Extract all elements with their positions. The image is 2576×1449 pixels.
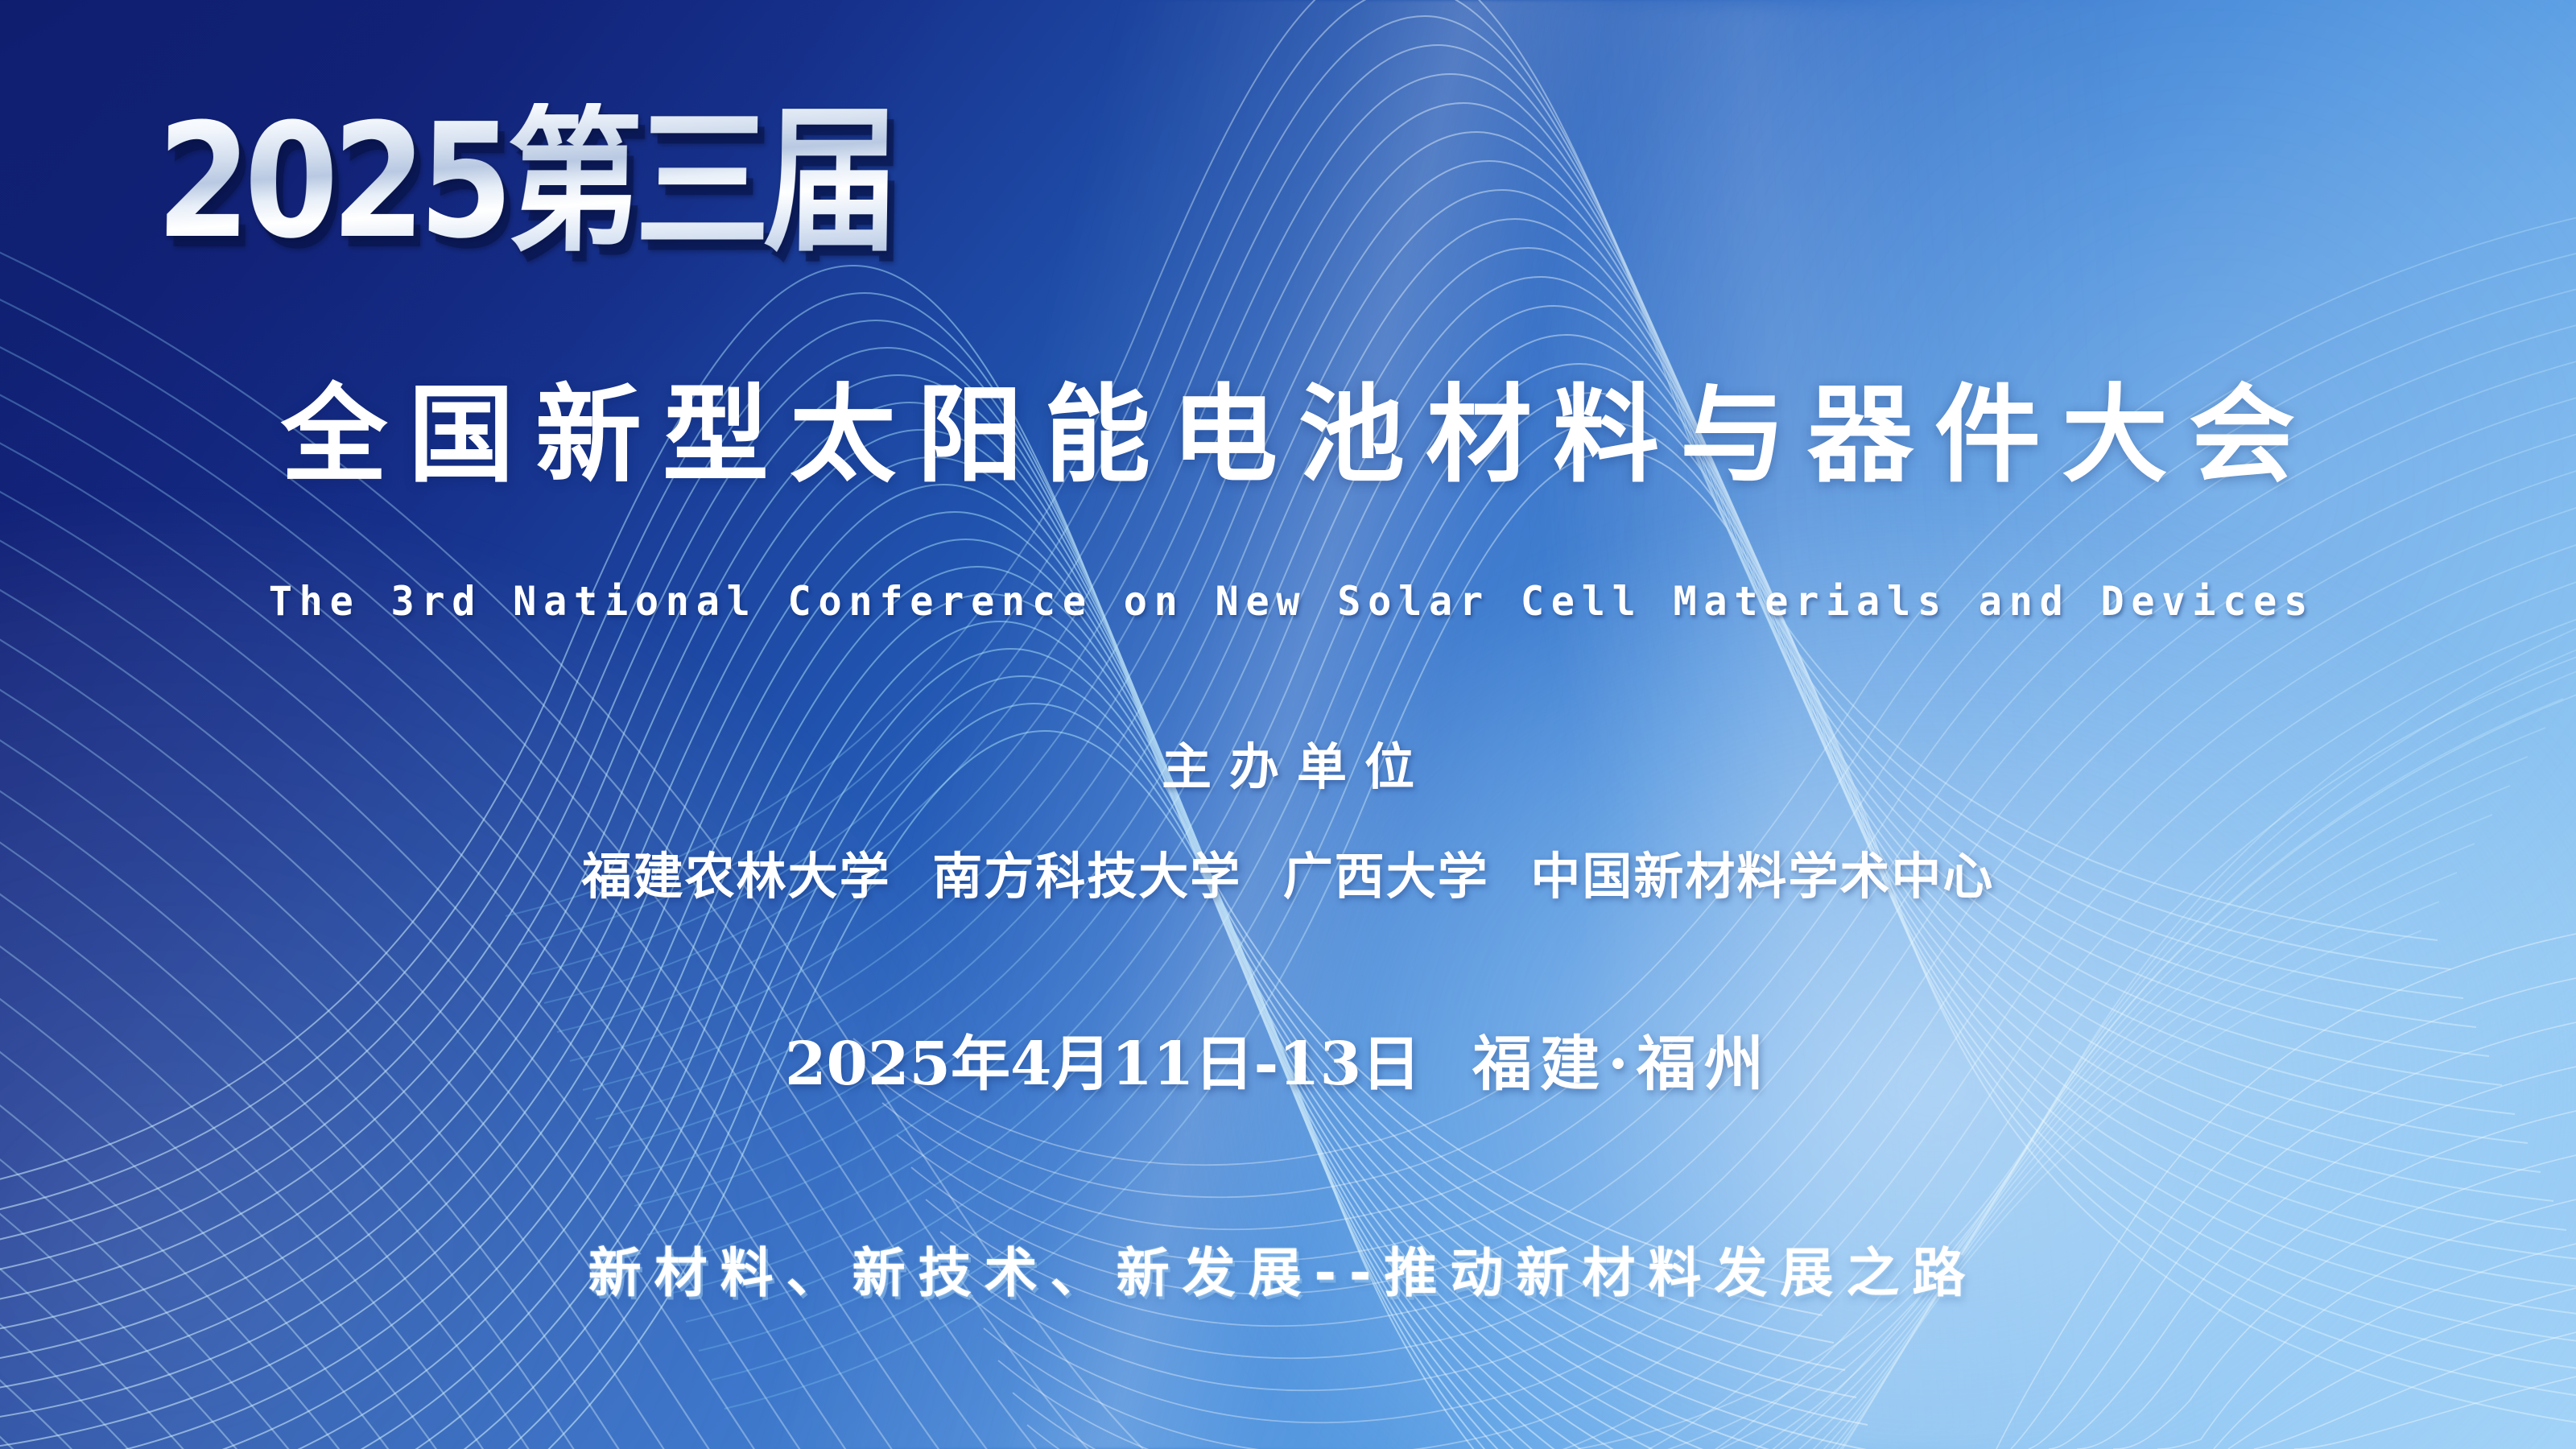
poster-content: 2025第三届 全国新型太阳能电池材料与器件大会 The 3rd Nationa… bbox=[0, 0, 2576, 1449]
organizer-item: 中国新材料学术中心 bbox=[1530, 847, 1994, 906]
conference-poster: 2025第三届 全国新型太阳能电池材料与器件大会 The 3rd Nationa… bbox=[0, 0, 2576, 1449]
organizer-section-label: 主办单位 bbox=[0, 726, 2576, 799]
page-title: 全国新型太阳能电池材料与器件大会 bbox=[0, 378, 2576, 493]
event-date: 2025年4月11日-13日 bbox=[785, 1030, 1421, 1099]
event-venue: 福建·福州 bbox=[1472, 1030, 1772, 1099]
organizer-item: 广西大学 bbox=[1283, 847, 1489, 906]
headline-year-edition: 2025第三届 bbox=[155, 103, 894, 261]
event-slogan: 新材料、新技术、新发展--推动新材料发展之路 bbox=[0, 1230, 2565, 1307]
organizer-item: 南方科技大学 bbox=[932, 847, 1241, 906]
english-subtitle: The 3rd National Conference on New Solar… bbox=[39, 578, 2537, 625]
organizer-list: 福建农林大学 南方科技大学 广西大学 中国新材料学术中心 bbox=[0, 836, 2576, 908]
date-venue-line: 2025年4月11日-13日福建·福州 bbox=[0, 1016, 2566, 1102]
organizer-item: 福建农林大学 bbox=[582, 847, 891, 906]
